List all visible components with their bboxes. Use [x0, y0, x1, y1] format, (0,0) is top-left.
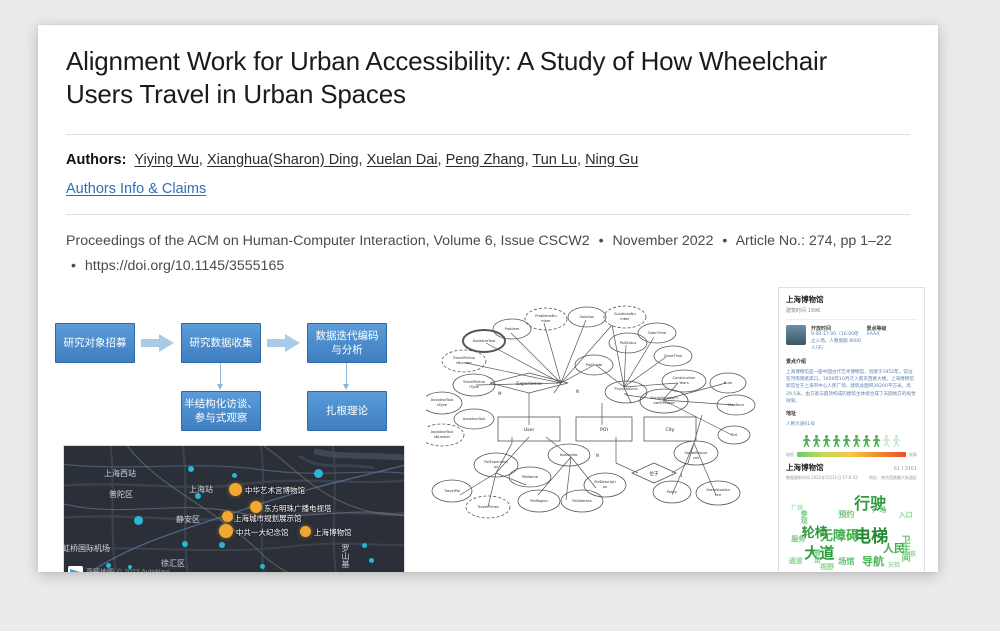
flow-connector-1 [220, 363, 221, 385]
wordcloud-word: 展览 [812, 549, 822, 563]
flow-arrow-1 [141, 333, 175, 353]
svg-text:nce: nce [715, 493, 722, 497]
svg-text:on: on [494, 465, 498, 469]
card-content: Alignment Work for Urban Accessibility: … [38, 25, 938, 280]
svg-text:PoiStatus: PoiStatus [620, 341, 637, 345]
map-poi-marker[interactable] [222, 511, 233, 522]
svg-text:Num: Num [724, 381, 733, 385]
map-attribution-en: © 2022 AutoNavi [117, 569, 170, 573]
author-sep: , [199, 152, 207, 168]
person-icon [842, 435, 851, 448]
wordcloud-poi-name: 上海博物馆 [786, 462, 824, 473]
svg-text:City: City [665, 427, 674, 433]
flow-connector-2 [346, 363, 347, 385]
wordcloud: 行驶 电梯 无障碍 大道 轮椅 导航 卫生间 人民 预约 广场 入口 参观 服务… [786, 485, 917, 572]
svg-text:MaxNum: MaxNum [728, 403, 744, 407]
map-label-jingan-district: 静安区 [176, 514, 200, 525]
svg-text:AssistiveTool: AssistiveTool [431, 430, 454, 434]
person-icon [852, 435, 861, 448]
wordcloud-rank-total: / 3161 [902, 466, 917, 472]
wordcloud-word: 厂房 [791, 503, 803, 512]
svg-text:PoiName: PoiName [522, 475, 539, 479]
gradient-bar [797, 452, 906, 457]
wordcloud-rank-value: 61 [894, 466, 900, 472]
author-link-2[interactable]: Xianghua(Sharon) Ding [207, 152, 359, 168]
gradient-high-label: 较高 [909, 452, 917, 458]
person-icon [802, 435, 811, 448]
svg-text:Construction: Construction [673, 376, 696, 380]
svg-text:1: 1 [680, 473, 683, 478]
wordcloud-rank: 61 / 3161 [894, 465, 917, 472]
map-dot [195, 493, 201, 499]
wordcloud-word: 预约 [838, 509, 854, 520]
svg-text:AssistiveTool: AssistiveTool [431, 398, 454, 402]
svg-text:SocialAccess/Fl: SocialAccess/Fl [650, 396, 677, 400]
map-dot [182, 541, 188, 547]
svg-text:Years: Years [679, 381, 689, 385]
wordcloud-word: 安检 [888, 560, 900, 569]
svg-text:Problem: Problem [505, 327, 520, 331]
flow-box-grounded: 扎根理论 [307, 391, 387, 431]
publication-metadata: Proceedings of the ACM on Human-Computer… [66, 229, 910, 281]
svg-text:PoiGrade: PoiGrade [586, 363, 603, 367]
svg-text:Policy: Policy [667, 490, 678, 494]
poi-hours-row: 开放时间 9:00-17:00（16:00停止入场，人数限题 8000人/天） … [786, 325, 917, 353]
map-dot [314, 469, 323, 478]
wordcloud-location: 地址：南京西路最大街道区 [869, 475, 917, 481]
author-link-6[interactable]: Ning Gu [585, 152, 638, 168]
svg-text:OpenTime: OpenTime [648, 331, 667, 335]
title-divider [66, 134, 910, 135]
poi-built-year: 建筑时间 1996 [786, 307, 917, 314]
er-diagram: AssistiveTool Problem ProblemsNumber Sol… [426, 295, 766, 545]
flow-box-recruit: 研究对象招募 [55, 323, 135, 363]
wordcloud-word: 通道 [789, 556, 803, 566]
opening-hours-label: 开放时间 [811, 325, 862, 332]
person-icon [832, 435, 841, 448]
svg-text:SocialResour: SocialResour [684, 451, 708, 455]
wordcloud-word: 地铁 [904, 549, 916, 558]
svg-text:CloseTime: CloseTime [664, 354, 683, 358]
poi-intro-label: 景点介绍 [786, 358, 917, 365]
er-diagram-svg: AssistiveTool Problem ProblemsNumber Sol… [426, 295, 766, 545]
map-dot [188, 466, 194, 472]
map-poi-marker[interactable] [300, 526, 311, 537]
svg-text:SolutionsNu: SolutionsNu [614, 312, 635, 316]
svg-text:AssistiveTool: AssistiveTool [473, 339, 496, 343]
author-sep: , [359, 152, 367, 168]
svg-text:owOfPeople: owOfPeople [653, 401, 675, 405]
meta-issue: Issue CSCW2 [501, 233, 590, 249]
poi-address-label: 地址 [786, 410, 917, 417]
svg-text:PoiRegion: PoiRegion [530, 499, 548, 503]
wordcloud-meta: 数据更新时间 2022年5月11日 17:6:32 地址：南京西路最大街道区 [786, 475, 917, 481]
meta-doi-link[interactable]: https://doi.org/10.1145/3555165 [85, 258, 284, 274]
svg-text:ProblemsNu: ProblemsNu [535, 314, 557, 318]
authors-divider [66, 214, 910, 215]
svg-text:BasicInfor: BasicInfor [560, 453, 578, 457]
authors-info-claims-link[interactable]: Authors Info & Claims [66, 181, 206, 197]
map-dot [219, 542, 225, 548]
meta-bullet-3: • [66, 258, 81, 274]
flow-box-analysis: 数据迭代编码 与分析 [307, 323, 387, 363]
author-link-5[interactable]: Tun Lu [532, 152, 577, 168]
map-poi-label-5: 上海博物馆 [314, 527, 352, 538]
svg-text:sNumber: sNumber [434, 435, 451, 439]
person-icon [812, 435, 821, 448]
gradient-low-label: 较低 [786, 452, 794, 458]
map-label-putuo-district: 普陀区 [109, 489, 133, 500]
meta-volume: Volume 6 [434, 233, 493, 249]
svg-text:PoiAddress: PoiAddress [572, 499, 592, 503]
gradient-legend: 较低 较高 [786, 452, 917, 458]
meta-bullet-1: • [594, 233, 609, 249]
meta-pages: pp 1–22 [840, 233, 891, 249]
map-poi-marker[interactable] [229, 483, 242, 496]
svg-text:User: User [524, 427, 535, 433]
figure-area: 研究对象招募 研究数据收集 数据迭代编码 与分析 半结构化访谈、 参与式观察 扎… [38, 287, 938, 572]
poi-intro-text: 上海博物馆是一座中国古代艺术博物馆，创建于1952年。馆址在河南南路黑口，195… [786, 369, 917, 406]
wordcloud-word: 服务 [791, 534, 805, 544]
opening-hours-value: 9:00-17:00（16:00停止入场，人数限题 8000人/天） [811, 332, 862, 353]
map-roads [64, 446, 404, 572]
svg-text:N: N [576, 389, 579, 394]
author-sep: , [438, 152, 446, 168]
wordcloud-word: 人民 [883, 540, 905, 556]
svg-text:on: on [603, 485, 607, 489]
shanghai-accessibility-map[interactable]: 上海西站 上海站 普陀区 静安区 徐汇区 虹桥国际机场 罗山基 [63, 445, 405, 572]
poi-info-card: 上海博物馆 建筑时间 1996 开放时间 9:00-17:00（16:00停止入… [779, 288, 924, 572]
svg-text:ss: ss [624, 392, 628, 396]
map-poi-marker[interactable] [219, 524, 233, 538]
opening-hours-col: 开放时间 9:00-17:00（16:00停止入场，人数限题 8000人/天） [811, 325, 862, 353]
flow-arrow-2 [267, 333, 301, 353]
svg-text:sType: sType [437, 403, 448, 407]
svg-text:Solution: Solution [580, 315, 595, 319]
map-poi-marker[interactable] [250, 501, 262, 513]
svg-text:Std: Std [731, 433, 737, 437]
flow-box-collect: 研究数据收集 [181, 323, 261, 363]
poi-address-text: 人民大道61号 [786, 421, 917, 428]
wordcloud-word: 入口 [899, 510, 913, 520]
amap-logo-icon [68, 566, 83, 572]
svg-text:TravelTimes: TravelTimes [476, 505, 498, 509]
wordcloud-update-time: 数据更新时间 2022年5月11日 17:6:32 [786, 475, 858, 481]
panel-divider [786, 319, 917, 320]
wordcloud-word: 参观 [799, 510, 809, 524]
map-poi-label-1: 中华艺术宫博物馆 [245, 485, 305, 496]
svg-text:mber: mber [541, 319, 551, 323]
authors-row: Authors:Yiying Wu, Xianghua(Sharon) Ding… [66, 152, 910, 168]
poi-detail-panel[interactable]: 上海博物馆 建筑时间 1996 开放时间 9:00-17:00（16:00停止入… [778, 287, 925, 572]
map-dot [232, 473, 237, 478]
svg-text:PoiExperienti: PoiExperienti [484, 460, 508, 464]
meta-bullet-2: • [717, 233, 732, 249]
svg-text:Experience: Experience [516, 381, 542, 387]
person-icon [872, 435, 881, 448]
poi-thumbnail [786, 325, 806, 345]
map-dot [362, 543, 367, 548]
svg-text:mber: mber [620, 317, 630, 321]
svg-text:rType: rType [469, 385, 480, 389]
svg-text:PoiDescripti: PoiDescripti [594, 480, 615, 484]
author-sep: , [577, 152, 585, 168]
poi-grade-col: 景点等级 AAAA [867, 325, 918, 353]
map-label-luoshan: 罗山基 [340, 544, 351, 568]
poi-name: 上海博物馆 [786, 294, 917, 305]
svg-text:rNumber: rNumber [456, 361, 472, 365]
accessibility-rating [786, 435, 917, 448]
svg-text:TravelPoi: TravelPoi [443, 489, 460, 493]
svg-text:POI: POI [600, 427, 608, 433]
map-attribution-cn: 高德地图 [86, 567, 114, 572]
person-icon-empty [892, 435, 901, 448]
svg-text:N: N [596, 453, 599, 458]
author-link-4[interactable]: Peng Zhang [446, 152, 525, 168]
research-process-flowchart: 研究对象招募 研究数据收集 数据迭代编码 与分析 半结构化访谈、 参与式观察 扎… [43, 311, 403, 446]
wordcloud-word: 场馆 [838, 556, 854, 567]
wordcloud-word: 广场 [872, 505, 886, 515]
author-link-3[interactable]: Xuelan Dai [367, 152, 438, 168]
author-link-1[interactable]: Yiying Wu [134, 152, 198, 168]
person-icon-empty [882, 435, 891, 448]
flow-box-interview: 半结构化访谈、 参与式观察 [181, 391, 261, 431]
wordcloud-word: 导航 [862, 553, 884, 569]
wordcloud-word: 视野 [820, 562, 834, 572]
map-dot [369, 558, 374, 563]
wordcloud-header: 上海博物馆 61 / 3161 [786, 462, 917, 473]
map-label-hongqiao-airport: 虹桥国际机场 [63, 543, 110, 554]
meta-venue: Proceedings of the ACM on Human-Computer… [66, 233, 426, 249]
svg-text:位于: 位于 [649, 470, 659, 477]
meta-date: November 2022 [613, 233, 714, 249]
poi-grade-label: 景点等级 [867, 325, 918, 332]
map-poi-label-4: 中共一大纪念馆 [236, 527, 289, 538]
meta-article-no: Article No.: 274 [736, 233, 833, 249]
map-label-shanghai-west-station: 上海西站 [104, 468, 136, 479]
svg-text:TravelPartne: TravelPartne [452, 356, 476, 360]
person-icon [862, 435, 871, 448]
authors-label: Authors: [66, 152, 126, 168]
paper-card: Alignment Work for Urban Accessibility: … [38, 25, 938, 572]
svg-text:TravelPartne: TravelPartne [462, 380, 486, 384]
poi-grade-value: AAAA [867, 332, 918, 339]
map-label-shanghai-station: 上海站 [189, 484, 213, 495]
person-icon [822, 435, 831, 448]
svg-text:PhysicalAcce: PhysicalAcce [614, 387, 638, 391]
page-title: Alignment Work for Urban Accessibility: … [66, 45, 836, 112]
map-attribution: 高德地图 © 2022 AutoNavi [68, 566, 170, 572]
svg-text:SocialAssista: SocialAssista [706, 488, 729, 492]
map-poi-label-3: 上海城市规划展示馆 [234, 513, 302, 524]
map-dot [260, 564, 265, 569]
authors-info-claims-row: Authors Info & Claims [66, 181, 910, 197]
svg-text:ces: ces [693, 456, 699, 460]
svg-text:AssistiveTool: AssistiveTool [463, 417, 486, 421]
svg-text:M: M [498, 391, 502, 396]
map-dot [134, 516, 143, 525]
